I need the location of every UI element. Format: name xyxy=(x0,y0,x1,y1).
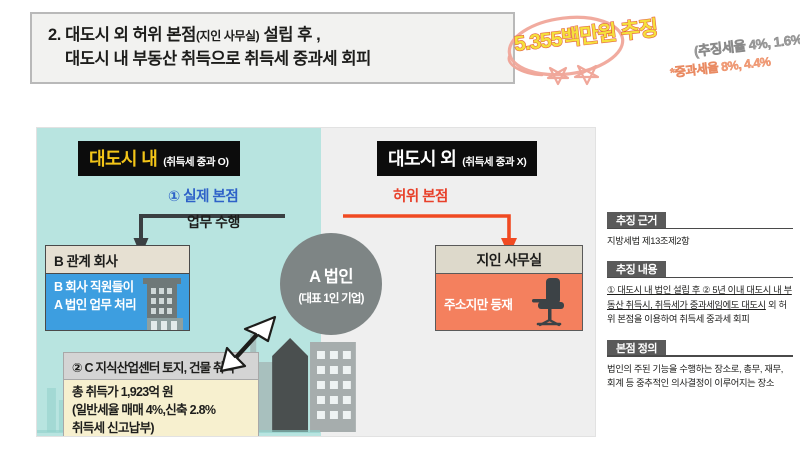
title-line-1-main: 2. 대도시 외 허위 본점 xyxy=(48,26,196,44)
label-false-headquarters: 허위 본점 xyxy=(393,185,448,206)
header-out-metro-title: 대도시 외 xyxy=(388,145,456,171)
sidebar-block-basis-head: 추징 근거 xyxy=(607,212,793,228)
sidebar-block-content-tag: 추징 내용 xyxy=(607,261,666,277)
sidebar-block-definition-head: 본점 정의 xyxy=(607,340,793,356)
office-chair-icon xyxy=(524,276,570,328)
card-related-company-header: B 관계 회사 xyxy=(45,245,190,273)
label-business-execution: 업무 수행 xyxy=(187,212,240,232)
card-related-company-body: B 회사 직원들이 A 법인 업무 처리 xyxy=(45,273,190,331)
label-real-headquarters: ① 실제 본점 xyxy=(168,185,238,206)
title-line-1-paren: (지인 사무실) xyxy=(196,29,259,43)
sidebar-block-content: 추징 내용 ① 대도시 내 법인 설립 후 ② 5년 이내 대도시 내 부동산 … xyxy=(607,261,793,326)
diagram-panel: 대도시 내 (취득세 중과 O) 대도시 외 (취득세 중과 X) ① 실제 본… xyxy=(36,127,596,437)
title-line-1-tail: 설립 후 , xyxy=(259,26,320,44)
sidebar-block-definition-text: 법인의 주된 기능을 수행하는 장소로, 총무, 재무, 회계 등 중추적인 의… xyxy=(607,362,793,391)
header-out-metro: 대도시 외 (취득세 중과 X) xyxy=(377,141,537,176)
office-building-icon xyxy=(143,276,187,330)
title-line-2: 대도시 내 부동산 취득으로 취득세 중과세 회피 xyxy=(48,48,499,72)
slide-root: 2. 대도시 외 허위 본점(지인 사무실) 설립 후 , 대도시 내 부동산 … xyxy=(0,0,800,450)
sidebar-block-basis-rule xyxy=(607,228,793,230)
card-asset-acquisition-line-2: (일반세율 매매 4%,신축 2.8% xyxy=(72,402,250,420)
sidebar-block-definition: 본점 정의 법인의 주된 기능을 수행하는 장소로, 총무, 재무, 회계 등 … xyxy=(607,340,793,391)
header-in-metro: 대도시 내 (취득세 중과 O) xyxy=(78,141,240,176)
sidebar-block-content-rule xyxy=(607,277,793,279)
node-corporation-a: A 법인 (대표 1인 기업) xyxy=(280,233,382,335)
header-in-metro-note: (취득세 중과 O) xyxy=(163,154,228,169)
acquisition-arrow-icon xyxy=(215,313,285,375)
node-corporation-a-subtitle: (대표 1인 기업) xyxy=(298,290,363,306)
title-line-1: 2. 대도시 외 허위 본점(지인 사무실) 설립 후 , xyxy=(48,24,499,48)
card-acquaintance-office-header: 지인 사무실 xyxy=(435,245,583,273)
sidebar-block-definition-rule xyxy=(607,355,793,357)
card-acquaintance-office: 지인 사무실 주소지만 등재 xyxy=(435,245,583,331)
node-corporation-a-name: A 법인 xyxy=(309,263,353,287)
sidebar-block-content-head: 추징 내용 xyxy=(607,261,793,277)
card-related-company: B 관계 회사 B 회사 직원들이 A 법인 업무 처리 xyxy=(45,245,190,331)
handwritten-annotation: 5.355백만원 추징 (추징세율 4%, 1.6%) *중과세율 8%, 4.… xyxy=(498,8,798,100)
card-asset-acquisition-body: 총 취득가 1,923억 원 (일반세율 매매 4%,신축 2.8% 취득세 신… xyxy=(63,379,259,437)
card-asset-acquisition-line-3: 취득세 신고납부) xyxy=(72,420,250,438)
sidebar-block-basis-text: 지방세법 제13조제2항 xyxy=(607,234,793,248)
card-acquaintance-office-text: 주소지만 등재 xyxy=(444,294,512,313)
slide-title-box: 2. 대도시 외 허위 본점(지인 사무실) 설립 후 , 대도시 내 부동산 … xyxy=(30,12,515,84)
sidebar-block-basis-tag: 추징 근거 xyxy=(607,212,666,228)
header-out-metro-note: (취득세 중과 X) xyxy=(462,154,526,169)
card-asset-acquisition-line-1: 총 취득가 1,923억 원 xyxy=(72,384,250,402)
sidebar-block-definition-tag: 본점 정의 xyxy=(607,340,666,356)
info-sidebar: 추징 근거 지방세법 제13조제2항 추징 내용 ① 대도시 내 법인 설립 후… xyxy=(607,212,793,403)
header-in-metro-title: 대도시 내 xyxy=(89,145,157,171)
card-acquaintance-office-body: 주소지만 등재 xyxy=(435,273,583,331)
sidebar-block-basis: 추징 근거 지방세법 제13조제2항 xyxy=(607,212,793,248)
sidebar-block-content-text: ① 대도시 내 법인 설립 후 ② 5년 이내 대도시 내 부동산 취득시, 취… xyxy=(607,283,793,326)
sidebar-block-content-underlined: ① 대도시 내 법인 설립 후 ② 5년 이내 대도시 내 부동산 취득시, 취… xyxy=(607,285,792,309)
